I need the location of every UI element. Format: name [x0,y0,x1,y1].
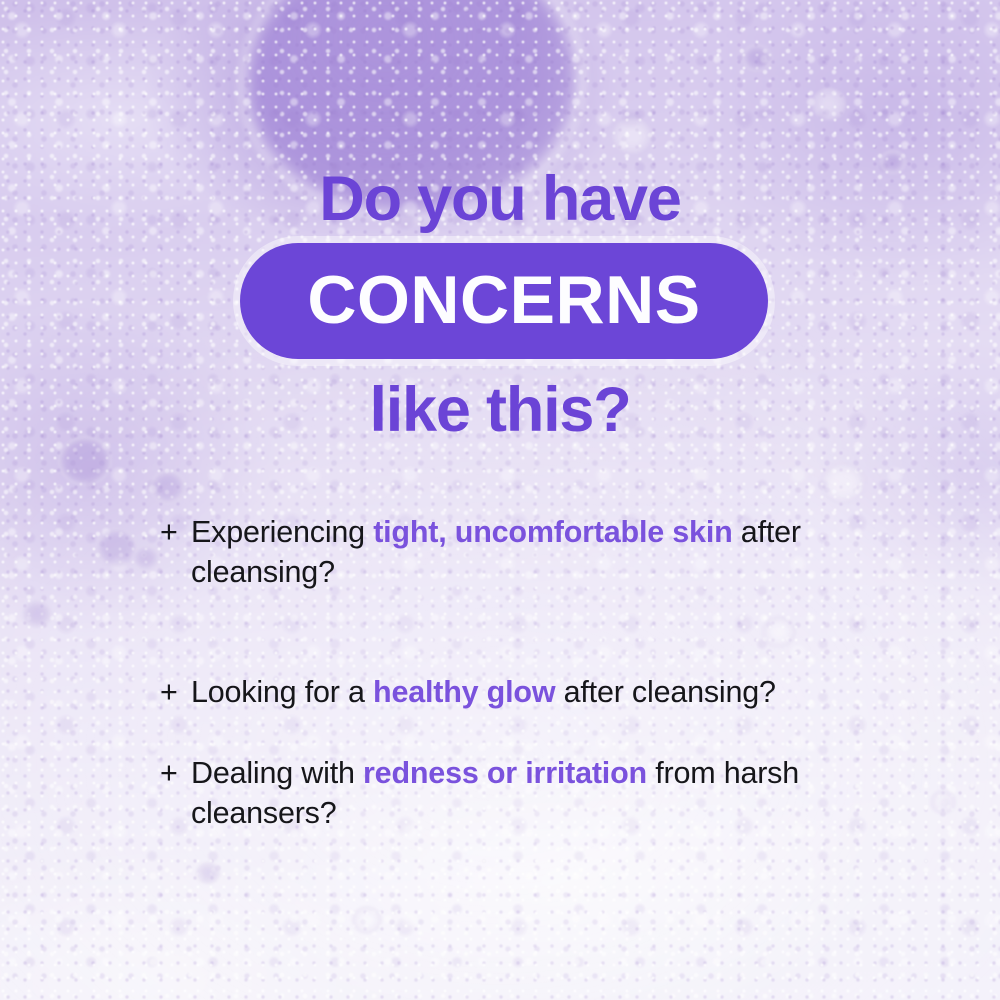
list-item: + Dealing with redness or irritation fro… [160,753,920,833]
list-item-highlight: tight, uncomfortable skin [373,515,732,549]
poster-content: Do you have CONCERNS like this? + Experi… [0,0,1000,1000]
headline-line-top: Do you have [0,168,1000,231]
list-item-highlight: healthy glow [373,675,555,709]
concerns-pill-label: CONCERNS [307,266,700,337]
list-item-text: Experiencing tight, uncomfortable skin a… [160,512,920,592]
list-item-text: Looking for a healthy glow after cleansi… [160,672,920,712]
plus-icon: + [160,512,190,552]
list-item: + Looking for a healthy glow after clean… [160,672,920,712]
headline-line-bottom: like this? [0,379,1000,442]
list-item-segment: Looking for a [191,675,373,709]
plus-icon: + [160,672,190,712]
list-item-highlight: redness or irritation [363,756,647,790]
concerns-list: + Experiencing tight, uncomfortable skin… [160,512,920,833]
list-item-segment: Dealing with [191,756,363,790]
plus-icon: + [160,753,190,793]
list-item: + Experiencing tight, uncomfortable skin… [160,512,920,592]
list-item-segment: after cleansing? [555,675,775,709]
list-item-text: Dealing with redness or irritation from … [160,753,920,833]
promo-poster: Do you have CONCERNS like this? + Experi… [0,0,1000,1000]
concerns-pill-badge: CONCERNS [240,243,768,359]
list-item-segment: Experiencing [191,515,373,549]
